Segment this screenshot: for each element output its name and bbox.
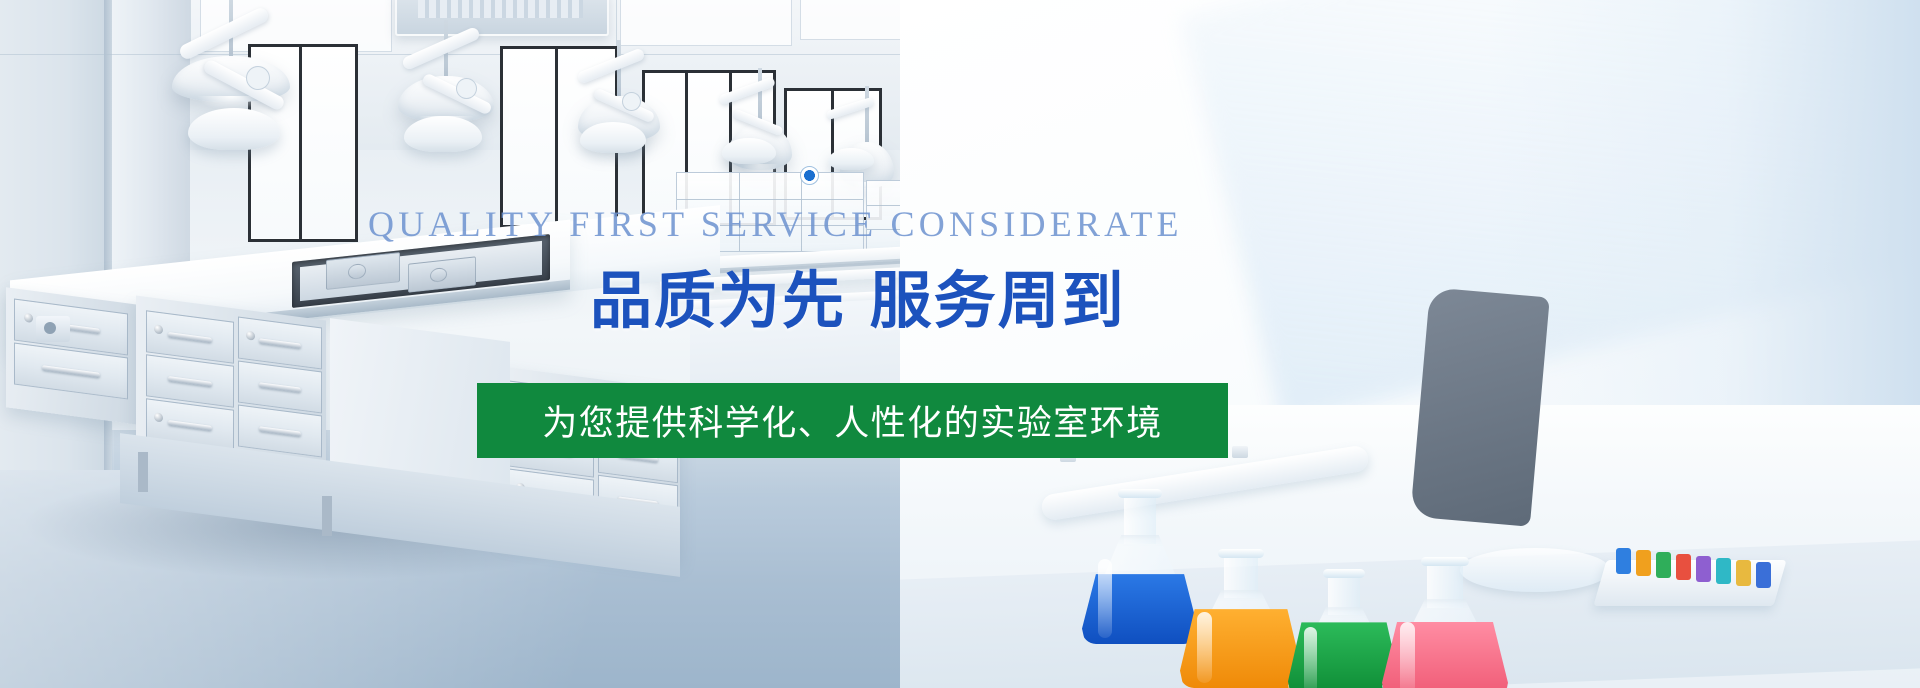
banner-subtitle-bar[interactable]: 为您提供科学化、人性化的实验室环境 (477, 383, 1228, 458)
structural-pillar (112, 0, 190, 300)
banner-subtitle-text: 为您提供科学化、人性化的实验室环境 (542, 395, 1163, 446)
vial (1616, 548, 1631, 574)
vial (1696, 556, 1711, 582)
fume-hood-bell (828, 148, 874, 170)
vial (1656, 552, 1671, 578)
scientist-photo-area (900, 0, 1920, 688)
arm-joint (456, 78, 477, 99)
vial (1676, 554, 1691, 580)
island-foot (322, 496, 332, 536)
fume-hood-bell (404, 116, 482, 152)
vial (1736, 560, 1751, 586)
hero-banner: QUALITY FIRST SERVICE CONSIDERATE 品质为先 服… (0, 0, 1920, 688)
chair-back (1410, 287, 1550, 527)
island-foot (138, 452, 148, 492)
desk-chip (1232, 446, 1248, 458)
vial (1636, 550, 1651, 576)
orange-flask (1180, 552, 1302, 688)
arm-joint (622, 92, 641, 111)
arm-joint (246, 66, 270, 90)
vial (1756, 562, 1771, 588)
wall-outlet (44, 322, 56, 334)
ceiling-panel (620, 0, 792, 46)
pink-flask (1382, 560, 1508, 688)
cabinet-logo-sticker (800, 166, 819, 185)
vial (1716, 558, 1731, 584)
ceiling-vent-louvers (418, 0, 583, 18)
fume-hood-bell (580, 122, 646, 153)
fume-hood-bell (188, 108, 280, 150)
fume-hood-bell (722, 138, 776, 164)
